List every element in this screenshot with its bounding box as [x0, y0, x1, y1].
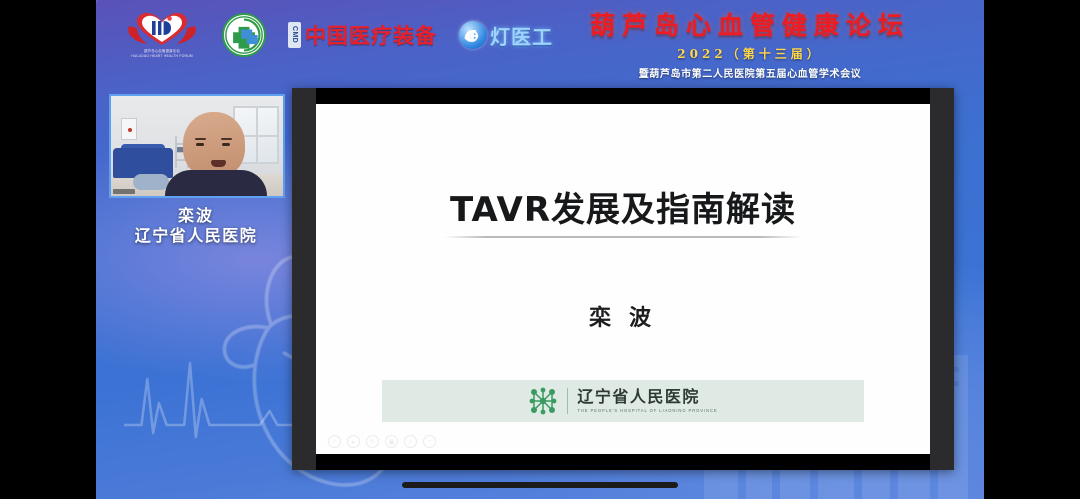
dolphin-icon — [460, 22, 486, 48]
broadcast-stage: 葫芦岛心血管健康论坛 HULUDAO HEART HEALTH FORUM — [96, 0, 984, 499]
presenter-organization: 辽宁省人民医院 — [96, 222, 296, 246]
yiyigong-logo: 灯医工 — [459, 10, 553, 60]
slide-canvas[interactable]: TAVR发展及指南解读 栾 波 — [316, 104, 930, 454]
green-cross-icon — [224, 15, 264, 55]
slide-viewer[interactable]: TAVR发展及指南解读 栾 波 — [292, 88, 954, 470]
eraser-icon[interactable]: ▣ — [385, 435, 398, 448]
webcam-video — [111, 96, 283, 196]
minus-icon[interactable]: − — [423, 435, 436, 448]
heart-forum-mark-icon — [125, 12, 199, 48]
hospital-name-cn: 辽宁省人民医院 — [577, 389, 717, 407]
slide-toolbar[interactable]: ‹ ▸ ✎ ▣ ⌕ − — [328, 435, 436, 448]
pen-icon[interactable]: ✎ — [366, 435, 379, 448]
screen-capture: 葫芦岛心血管健康论坛 HULUDAO HEART HEALTH FORUM — [0, 0, 1080, 499]
logo-divider — [567, 388, 568, 414]
yiyigong-text: 灯医工 — [490, 21, 553, 50]
prev-icon[interactable]: ‹ — [328, 435, 341, 448]
slide-title-divider — [444, 236, 802, 238]
play-icon[interactable]: ▸ — [347, 435, 360, 448]
cmd-chinese-text: 中国医疗装备 — [305, 20, 437, 50]
event-title-block: 葫芦岛心血管健康论坛 2022（第十三届） 暨葫芦岛市第二人民医院第五届心血管学… — [550, 6, 950, 80]
forum-subtitle: 暨葫芦岛市第二人民医院第五届心血管学术会议 — [550, 65, 950, 80]
slide-letterbox: TAVR发展及指南解读 栾 波 — [316, 88, 930, 470]
forum-year: 2022（第十三届） — [550, 45, 950, 62]
forum-title: 葫芦岛心血管健康论坛 — [550, 6, 950, 42]
huludao-logo-caption: 葫芦岛心血管健康论坛 HULUDAO HEART HEALTH FORUM — [131, 49, 193, 58]
china-medical-device-logo: CMD 中国医疗装备 — [288, 10, 437, 60]
slide-author: 栾 波 — [316, 300, 930, 332]
hospital-logo-bar: 辽宁省人民医院 THE PEOPLE'S HOSPITAL OF LIAONIN… — [382, 380, 864, 422]
presenter-video-tile[interactable] — [109, 94, 285, 198]
slide-title: TAVR发展及指南解读 — [316, 182, 930, 231]
zoom-icon[interactable]: ⌕ — [404, 435, 417, 448]
event-header: 葫芦岛心血管健康论坛 HULUDAO HEART HEALTH FORUM — [96, 0, 984, 78]
green-cross-hospital-logo — [222, 10, 266, 60]
hospital-name-en: THE PEOPLE'S HOSPITAL OF LIAONING PROVIN… — [577, 408, 717, 413]
hospital-name-block: 辽宁省人民医院 THE PEOPLE'S HOSPITAL OF LIAONIN… — [577, 389, 717, 414]
cmd-badge: CMD — [288, 22, 301, 48]
huludao-heart-forum-logo: 葫芦岛心血管健康论坛 HULUDAO HEART HEALTH FORUM — [124, 10, 200, 60]
sponsor-logo-row: 葫芦岛心血管健康论坛 HULUDAO HEART HEALTH FORUM — [124, 10, 553, 60]
home-indicator — [402, 482, 678, 488]
hospital-mark-icon — [528, 386, 558, 416]
dolphin-badge-icon — [459, 21, 487, 49]
